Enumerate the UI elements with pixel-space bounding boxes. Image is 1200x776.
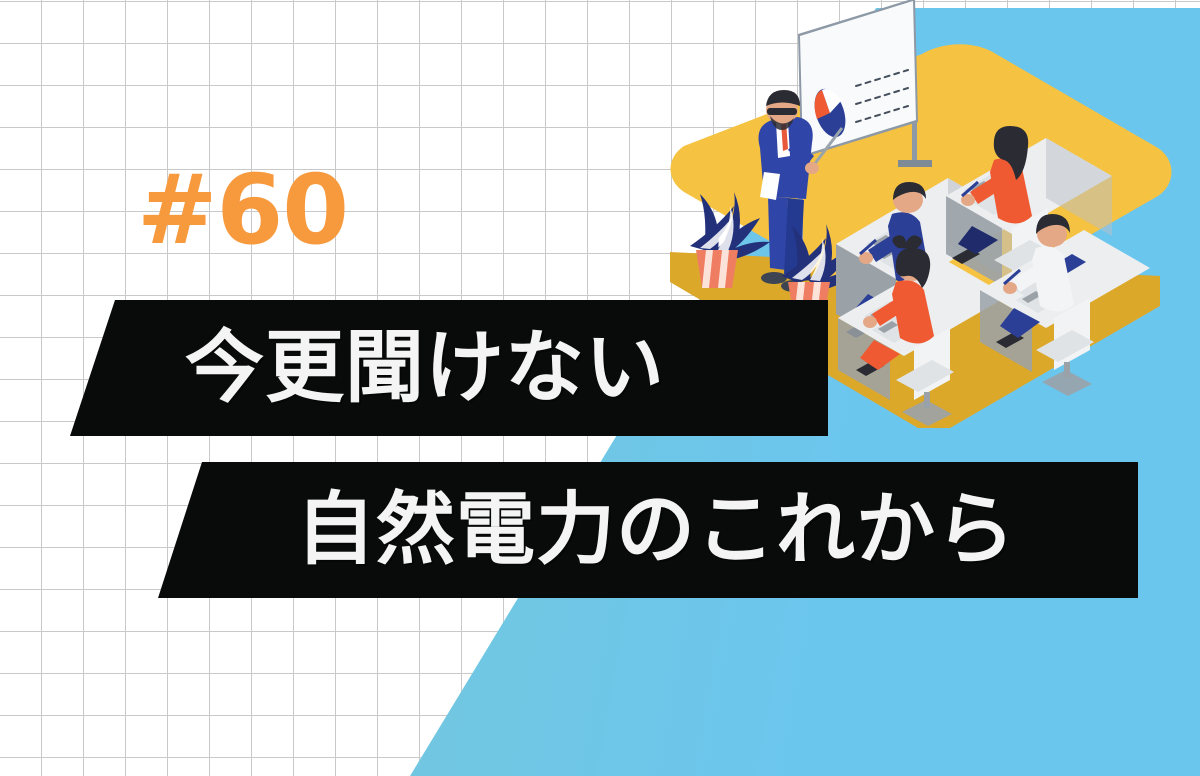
issue-number: #60 — [137, 162, 348, 258]
presenter-shoe-left — [761, 272, 787, 284]
person3-hand — [863, 316, 877, 328]
title-banner-line1: 今更聞けない — [70, 300, 828, 436]
board-foot-right — [898, 160, 932, 167]
title-line2-text: 自然電力のこれから — [296, 491, 1016, 570]
title-banner-line2: 自然電力のこれから — [158, 462, 1138, 598]
plant-pot-left — [696, 250, 738, 288]
title-line1-text: 今更聞けない — [185, 329, 665, 408]
presenter-hand — [805, 162, 819, 174]
slide-canvas: #60 今更聞けない 自然電力のこれから — [0, 0, 1200, 776]
presenter-glasses — [767, 108, 797, 115]
